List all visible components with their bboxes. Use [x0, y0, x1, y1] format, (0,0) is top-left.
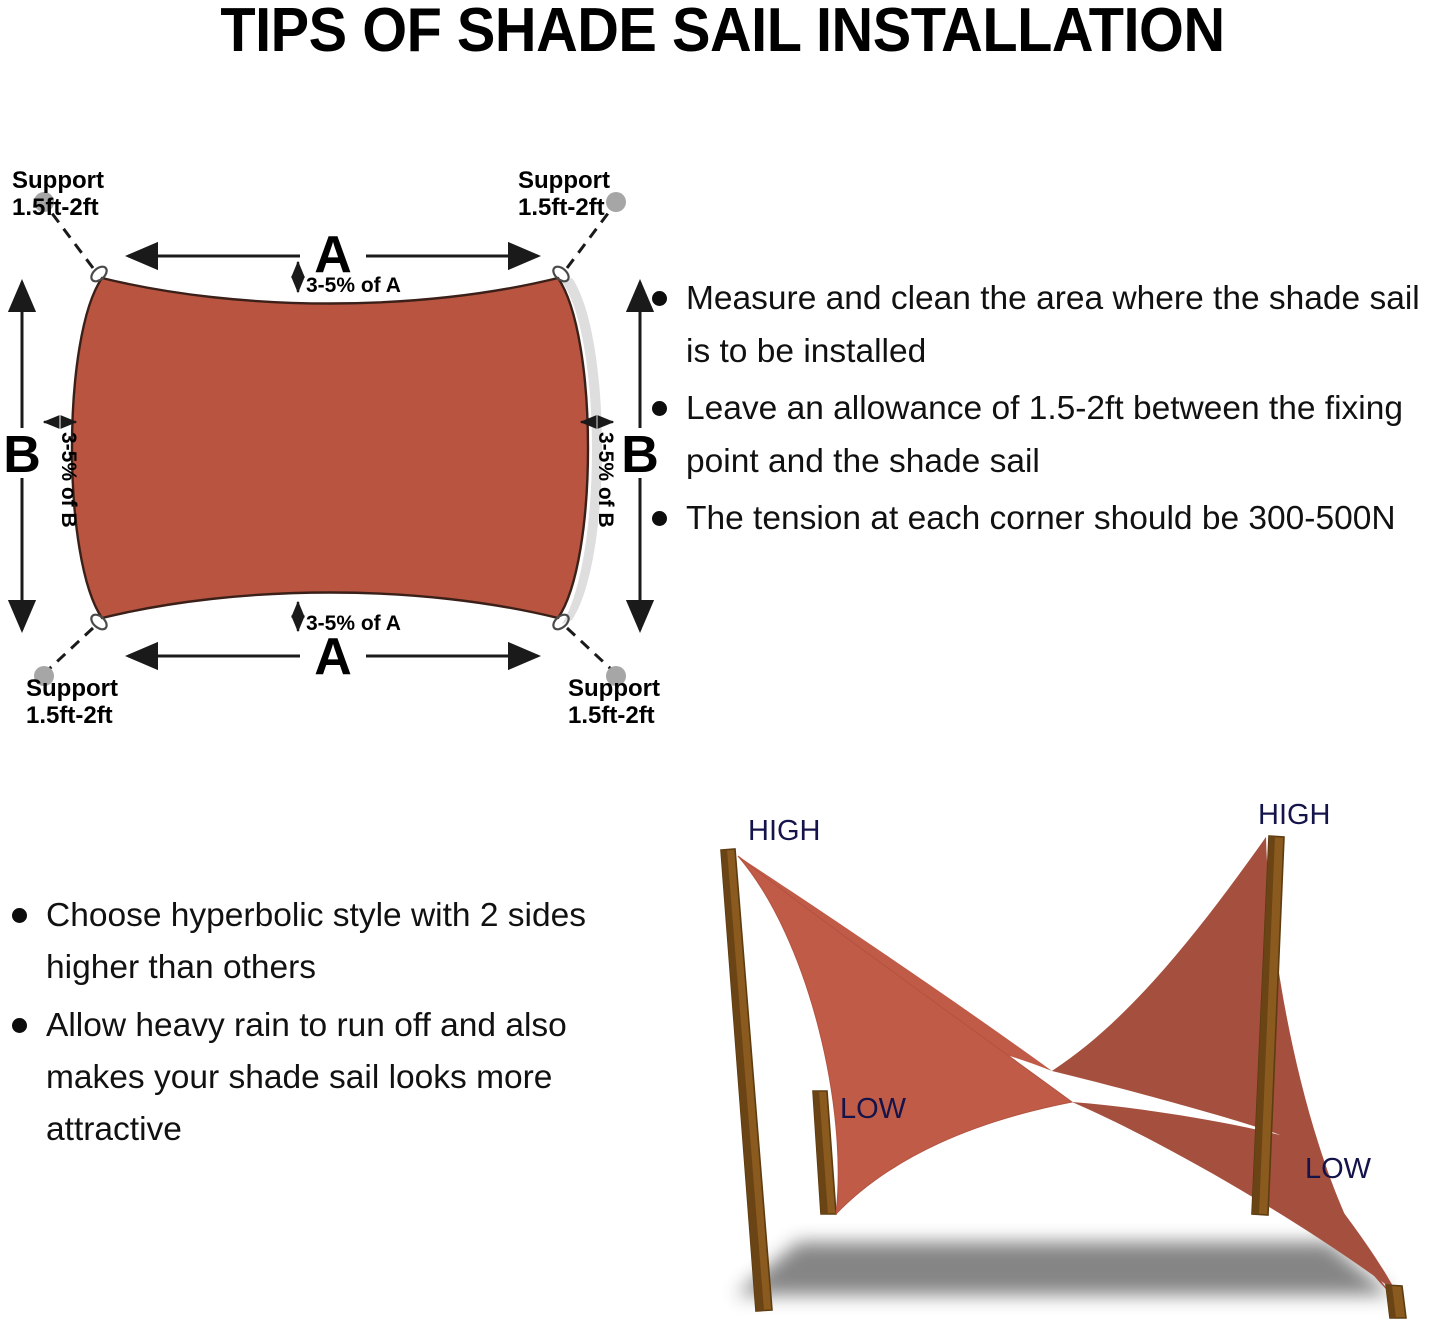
curve-label-bottom: 3-5% of A [306, 612, 401, 635]
list-item: The tension at each corner should be 300… [640, 492, 1445, 545]
support-label-top-right-line2: 1.5ft-2ft [518, 194, 605, 221]
support-label-bottom-left-line2: 1.5ft-2ft [26, 702, 113, 729]
installation-tips-left-list: Choose hyperbolic style with 2 sides hig… [0, 890, 640, 1162]
list-item: Choose hyperbolic style with 2 sides hig… [0, 890, 640, 994]
list-item: Allow heavy rain to run off and also mak… [0, 1000, 640, 1156]
shade-sail-shape [72, 278, 588, 618]
sail-wing-front-left [738, 856, 1072, 1214]
scene-label-low-left: LOW [840, 1093, 907, 1125]
support-label-top-right-line1: Support [518, 167, 610, 194]
list-item: Leave an allowance of 1.5-2ft between th… [640, 382, 1445, 488]
dimension-label-B-left: B [3, 426, 41, 484]
support-label-bottom-right-line2: 1.5ft-2ft [568, 702, 655, 729]
curve-label-top: 3-5% of A [306, 274, 401, 297]
support-label-bottom-left-line1: Support [26, 675, 118, 702]
list-item: Measure and clean the area where the sha… [640, 272, 1445, 378]
page-title: TIPS OF SHADE SAIL INSTALLATION [51, 0, 1395, 66]
support-label-top-left-line1: Support [12, 167, 104, 194]
post-low-right [1386, 1285, 1406, 1318]
installation-tips-right-list: Measure and clean the area where the sha… [640, 272, 1445, 549]
hyperbolic-sail-scene: HIGH HIGH LOW LOW [680, 790, 1445, 1319]
curve-label-right: 3-5% of B [594, 432, 617, 528]
ground-shadow [736, 1242, 1392, 1295]
support-dot-top-right [606, 192, 626, 212]
scene-label-high-left: HIGH [748, 815, 821, 847]
rect-sail-diagram: Support 1.5ft-2ft Support 1.5ft-2ft Supp… [0, 160, 680, 740]
curve-label-left: 3-5% of B [57, 432, 80, 528]
support-label-top-left-line2: 1.5ft-2ft [12, 194, 99, 221]
scene-label-high-right: HIGH [1258, 799, 1331, 831]
post-low-left [813, 1091, 836, 1214]
post-high-left [721, 849, 772, 1311]
scene-label-low-right: LOW [1305, 1153, 1372, 1185]
dimension-label-A-bottom: A [314, 628, 352, 686]
infographic-page: TIPS OF SHADE SAIL INSTALLATION [0, 0, 1445, 1319]
support-label-bottom-right-line1: Support [568, 675, 660, 702]
